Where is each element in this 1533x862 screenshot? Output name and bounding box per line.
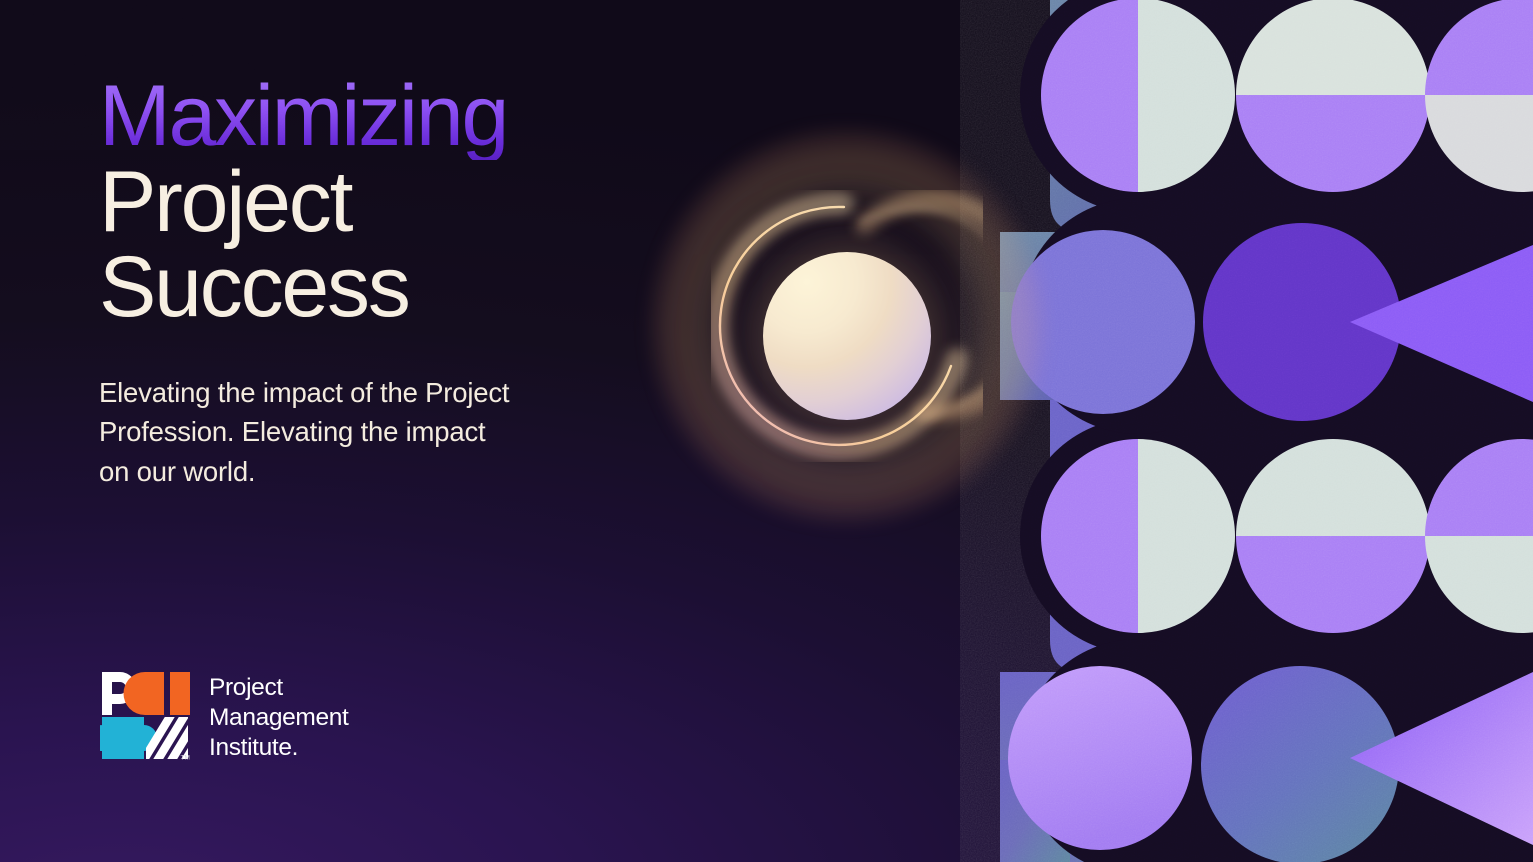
subheadline-line-2: Profession. Elevating the impact bbox=[99, 412, 639, 452]
poster-canvas: Maximizing Project Success Elevating the… bbox=[0, 0, 1533, 862]
hero-copy: Maximizing Project Success Elevating the… bbox=[99, 74, 719, 492]
headline-line-1: Project bbox=[99, 160, 719, 244]
logo-word-line-2: Management bbox=[209, 703, 349, 733]
letter-m-cell bbox=[124, 672, 191, 715]
headline-accent-line: Maximizing bbox=[99, 74, 719, 160]
pmi-logo: TM Project Management Institute. bbox=[100, 670, 349, 763]
page-title: Maximizing Project Success bbox=[99, 74, 719, 329]
pmi-logo-mark: TM bbox=[100, 670, 190, 762]
headline-line-2: Success bbox=[99, 245, 719, 329]
pattern-svg bbox=[960, 0, 1533, 862]
geometric-decoration-panel bbox=[960, 0, 1533, 862]
logo-word-line-3: Institute. bbox=[209, 733, 349, 763]
trademark-mark: TM bbox=[181, 755, 190, 762]
subheadline-line-3: on our world. bbox=[99, 452, 639, 492]
subheadline-line-1: Elevating the impact of the Project bbox=[99, 373, 639, 413]
pmi-logo-wordmark: Project Management Institute. bbox=[209, 670, 349, 763]
logo-word-line-1: Project bbox=[209, 673, 349, 703]
subheadline: Elevating the impact of the Project Prof… bbox=[99, 373, 639, 492]
orb-sphere-body bbox=[763, 252, 931, 420]
glowing-sphere bbox=[711, 190, 983, 462]
